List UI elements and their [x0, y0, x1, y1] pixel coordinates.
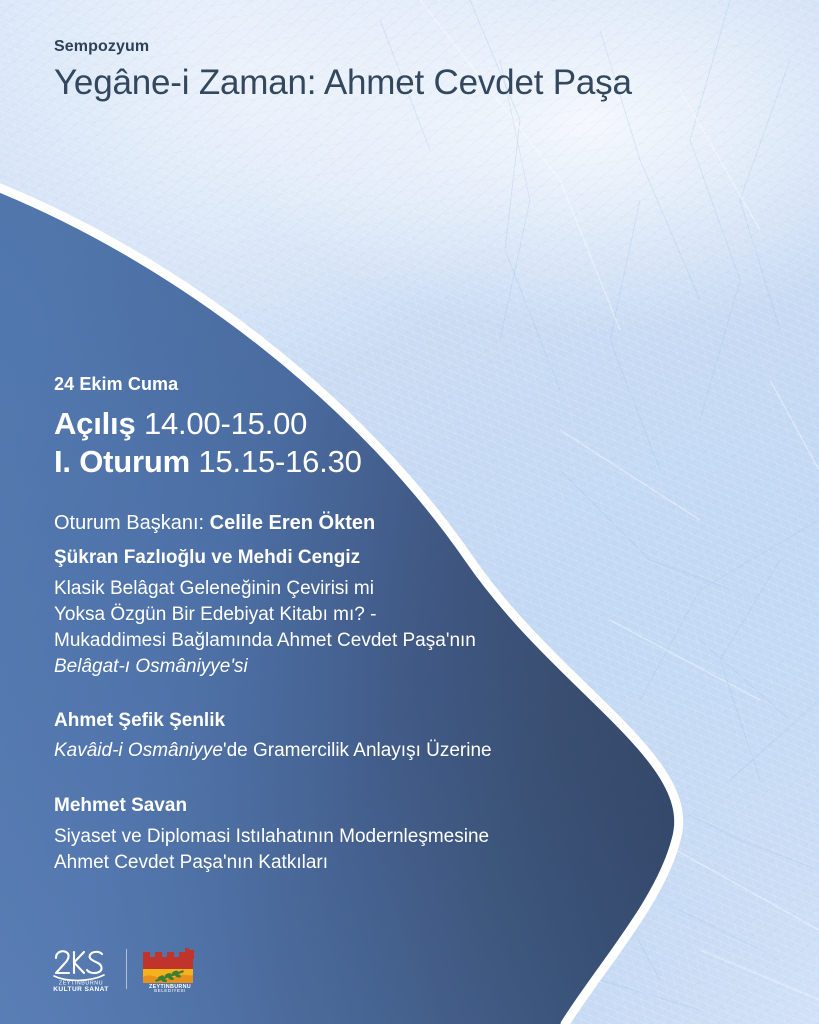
chair-label: Oturum Başkanı:	[54, 512, 204, 534]
belediyesi-logo-line2: BELEDIYESI	[154, 988, 186, 992]
session-chair: Oturum Başkanı: Celile Eren Ökten	[54, 510, 694, 536]
talk-title: Siyaset ve Diplomasi Istılahatının Moder…	[54, 824, 714, 876]
zeytinburnu-belediyesi-logo: ZEYTINBURNU BELEDIYESI	[141, 946, 199, 992]
talk-speaker: Şükran Fazlıoğlu ve Mehdi Cengiz	[54, 546, 714, 571]
program-day: 24 Ekim Cuma	[54, 374, 694, 395]
talk-title-line: Yoksa Özgün Bir Edebiyat Kitabı mı? -	[54, 604, 376, 625]
program-slot: Açılış 14.00-15.00	[54, 405, 694, 444]
talk-title: Kavâid-i Osmâniyye'de Gramercilik Anlayı…	[54, 738, 714, 764]
talk-item: Şükran Fazlıoğlu ve Mehdi Cengiz Klasik …	[54, 546, 714, 681]
talk-title-line: Ahmet Cevdet Paşa'nın Katkıları	[54, 852, 328, 873]
event-kicker: Sempozyum	[54, 38, 754, 56]
talk-item: Mehmet Savan Siyaset ve Diplomasi Istıla…	[54, 794, 714, 876]
logo-divider	[126, 949, 127, 989]
talk-title-part: 'de Gramercilik Anlayışı Üzerine	[223, 740, 492, 761]
talk-title-line: Siyaset ve Diplomasi Istılahatının Moder…	[54, 826, 489, 847]
slot-name: Açılış	[54, 406, 136, 441]
page-title: Yegâne-i Zaman: Ahmet Cevdet Paşa	[54, 63, 754, 103]
chair-name: Celile Eren Ökten	[210, 512, 376, 534]
program-block: 24 Ekim Cuma Açılış 14.00-15.00 I. Oturu…	[54, 374, 694, 536]
talk-title: Klasik Belâgat Geleneğinin Çevirisi mi Y…	[54, 576, 714, 681]
talks-list: Şükran Fazlıoğlu ve Mehdi Cengiz Klasik …	[54, 546, 714, 877]
talk-title-part-italic: Kavâid-i Osmâniyye	[54, 740, 223, 761]
program-slot: I. Oturum 15.15-16.30	[54, 443, 694, 482]
slot-name: I. Oturum	[54, 444, 190, 479]
talk-title-line: Klasik Belâgat Geleneğinin Çevirisi mi	[54, 578, 374, 599]
logo-bar: ZEYTINBURNU KULTUR SANAT	[50, 946, 199, 992]
talk-title-line-italic: Belâgat-ı Osmâniyye'si	[54, 656, 248, 677]
slot-time: 14.00-15.00	[144, 406, 307, 441]
zks-logo-line2: KULTUR SANAT	[53, 986, 108, 992]
talk-speaker: Ahmet Şefik Şenlik	[54, 709, 714, 734]
zeytinburnu-kultur-sanat-logo: ZEYTINBURNU KULTUR SANAT	[50, 946, 112, 992]
poster: Sempozyum Yegâne-i Zaman: Ahmet Cevdet P…	[0, 0, 819, 1024]
slot-time: 15.15-16.30	[198, 444, 361, 479]
talk-title-line: Mukaddimesi Bağlamında Ahmet Cevdet Paşa…	[54, 630, 476, 651]
talk-speaker: Mehmet Savan	[54, 794, 714, 819]
poster-header: Sempozyum Yegâne-i Zaman: Ahmet Cevdet P…	[54, 38, 754, 103]
talk-item: Ahmet Şefik Şenlik Kavâid-i Osmâniyye'de…	[54, 709, 714, 765]
